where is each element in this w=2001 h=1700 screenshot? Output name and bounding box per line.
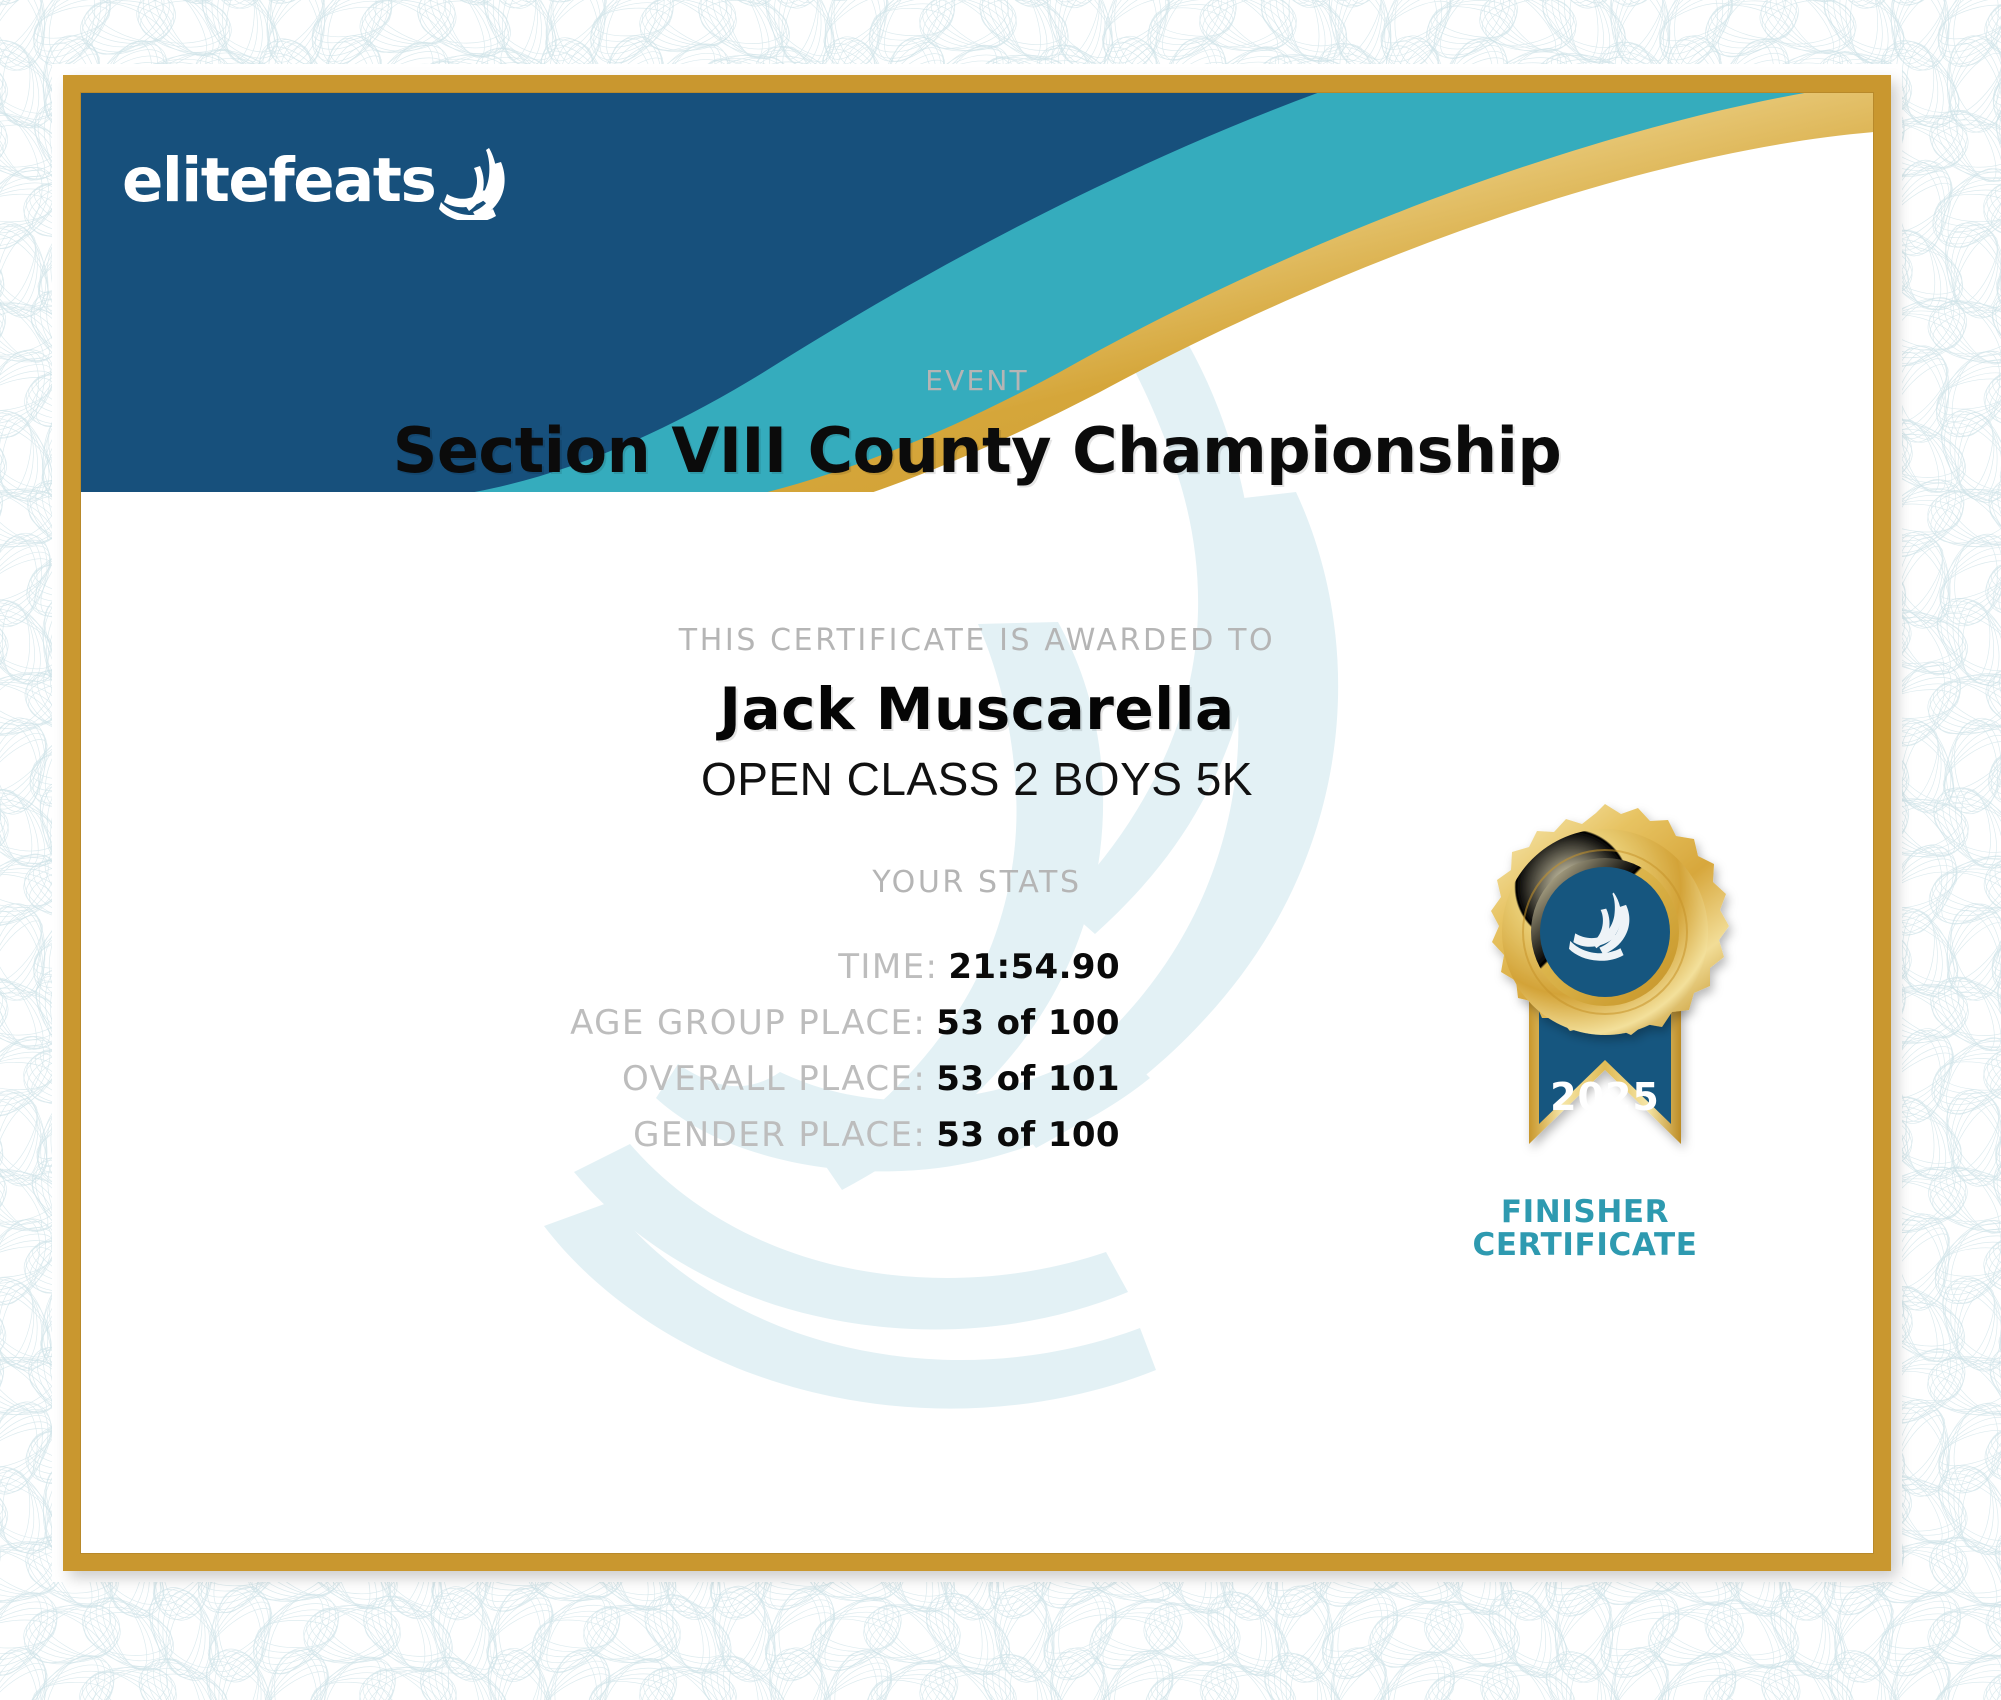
recipient-name: Jack Muscarella: [80, 675, 1874, 743]
badge-caption: FINISHER CERTIFICATE: [1435, 1196, 1735, 1262]
certificate-page: elitefeats EVENT Section VIII County Cha…: [0, 0, 2001, 1700]
stat-row-age-group-place: AGE GROUP PLACE: 53 of 100: [80, 1003, 1120, 1043]
awarded-to-label: THIS CERTIFICATE IS AWARDED TO: [80, 623, 1874, 658]
event-title: Section VIII County Championship: [80, 414, 1874, 487]
stat-label: AGE GROUP PLACE:: [570, 1003, 926, 1043]
stat-label: TIME:: [838, 947, 938, 987]
brand-logo: elitefeats: [122, 140, 509, 220]
brand-wordmark: elitefeats: [122, 150, 435, 211]
stat-label: GENDER PLACE:: [633, 1115, 926, 1155]
stat-row-overall-place: OVERALL PLACE: 53 of 101: [80, 1059, 1120, 1099]
certificate-content: EVENT Section VIII County Championship T…: [80, 92, 1874, 1554]
finisher-badge: 2025 FINISHER CERTIFICATE: [1435, 792, 1775, 1292]
event-label: EVENT: [80, 364, 1874, 397]
stat-row-time: TIME: 21:54.90: [80, 947, 1120, 987]
certificate-canvas: elitefeats EVENT Section VIII County Cha…: [80, 92, 1874, 1554]
badge-caption-line2: CERTIFICATE: [1435, 1229, 1735, 1262]
stat-value: 53 of 100: [936, 1003, 1120, 1043]
stat-value: 53 of 100: [936, 1115, 1120, 1155]
stats-list: TIME: 21:54.90 AGE GROUP PLACE: 53 of 10…: [80, 947, 1120, 1155]
gold-frame: elitefeats EVENT Section VIII County Cha…: [63, 75, 1891, 1571]
stat-value: 21:54.90: [948, 947, 1120, 987]
stat-value: 53 of 101: [936, 1059, 1120, 1099]
stat-label: OVERALL PLACE:: [622, 1059, 926, 1099]
winged-foot-icon: [439, 146, 509, 220]
stat-row-gender-place: GENDER PLACE: 53 of 100: [80, 1115, 1120, 1155]
badge-caption-line1: FINISHER: [1435, 1196, 1735, 1229]
badge-year: 2025: [1550, 1075, 1660, 1119]
medal-rosette-icon: 2025: [1455, 792, 1755, 1192]
